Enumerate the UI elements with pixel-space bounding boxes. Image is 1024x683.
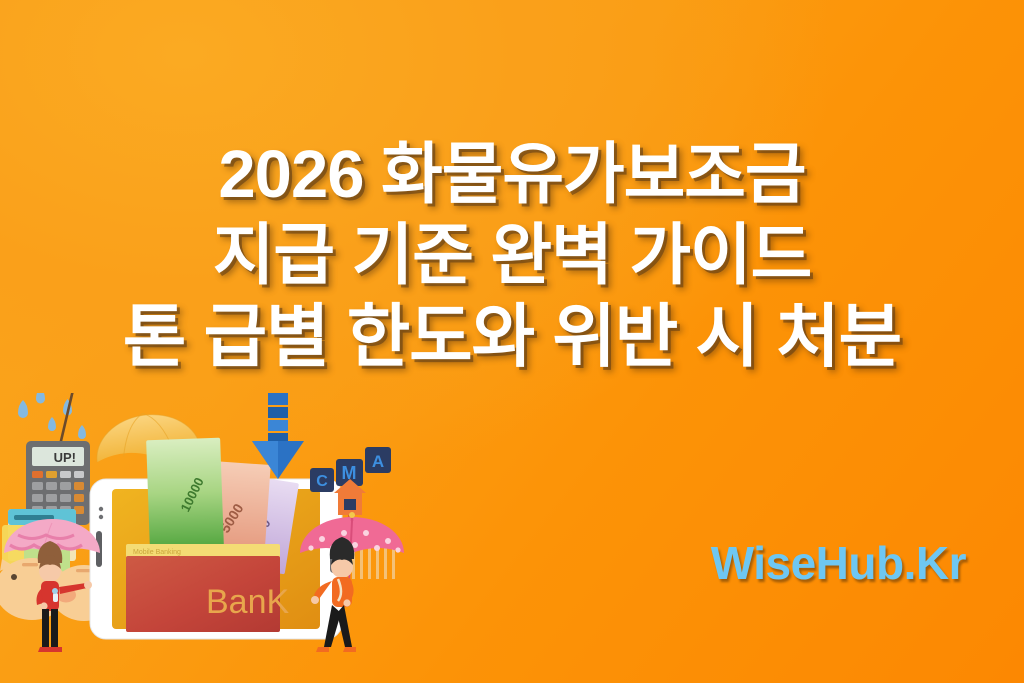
cma-block-c: C bbox=[310, 468, 334, 492]
bank-card-header-text: Mobile Banking bbox=[133, 549, 181, 556]
illustration-mobile-banking-savings-scene: UP! bbox=[0, 393, 430, 683]
thumbnail-canvas: UP! bbox=[0, 0, 1024, 683]
title-line-1: 2026 화물유가보조금 bbox=[0, 134, 1024, 215]
calculator-display-text: UP! bbox=[54, 450, 76, 465]
cma-block-a: A bbox=[365, 447, 391, 473]
watermark-logo: WiseHub.Kr bbox=[711, 536, 966, 590]
banknote-10000: 10000 bbox=[146, 438, 224, 553]
cma-block-a-letter: A bbox=[372, 452, 384, 471]
bank-card-logo-text: BanK bbox=[206, 583, 289, 621]
title-block: 2026 화물유가보조금 지급 기준 완벽 가이드 톤 급별 한도와 위반 시 … bbox=[0, 134, 1024, 377]
raindrops-icon bbox=[18, 393, 86, 439]
bank-card: Mobile Banking BanK bbox=[126, 544, 289, 632]
title-line-2: 지급 기준 완벽 가이드 bbox=[0, 215, 1024, 296]
cma-block-c-letter: C bbox=[316, 473, 328, 490]
title-line-3: 톤 급별 한도와 위반 시 처분 bbox=[0, 296, 1024, 377]
